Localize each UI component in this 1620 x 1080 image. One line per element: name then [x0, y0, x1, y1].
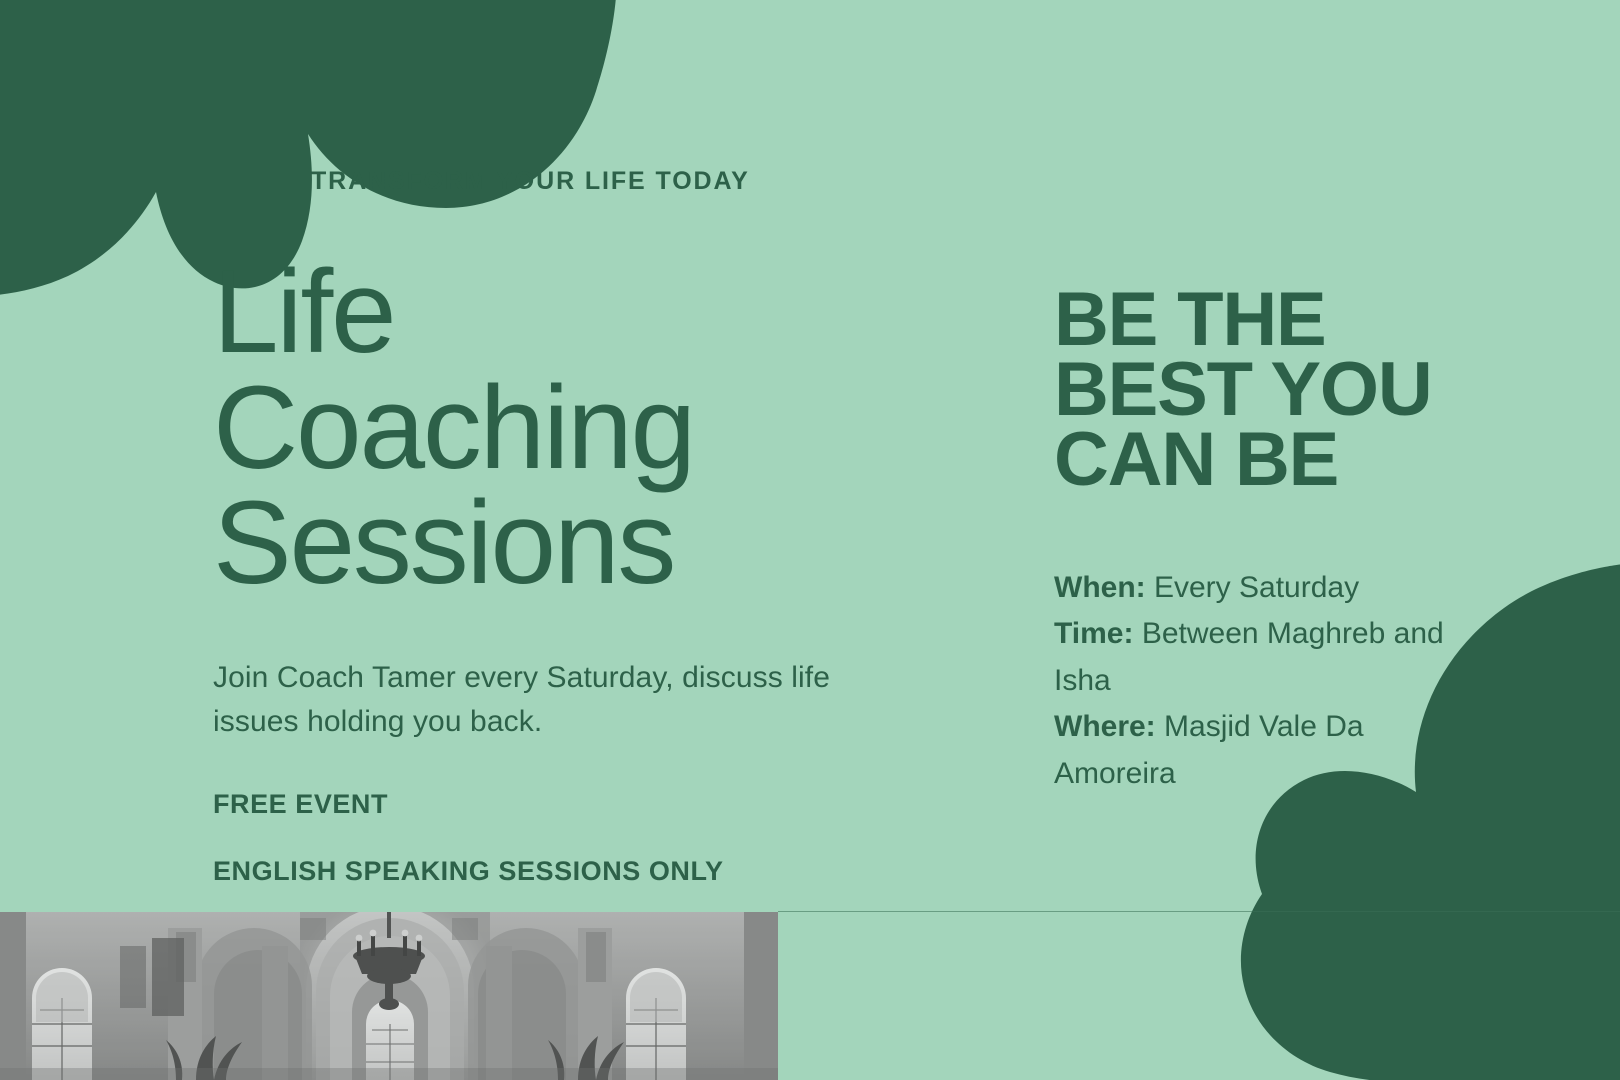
left-column: Life Coaching Sessions Join Coach Tamer …	[213, 255, 913, 887]
language-notice: ENGLISH SPEAKING SESSIONS ONLY	[213, 856, 913, 887]
supporting-copy: Join Coach Tamer every Saturday, discuss…	[213, 656, 863, 744]
detail-row-when: When: Every Saturday	[1054, 565, 1454, 612]
poster-canvas: TRANSFORM YOUR LIFE TODAY Life Coaching …	[0, 0, 1620, 1080]
poster-content: TRANSFORM YOUR LIFE TODAY Life Coaching …	[0, 0, 1620, 1080]
detail-label-when: When:	[1054, 571, 1146, 604]
eyebrow-tagline: TRANSFORM YOUR LIFE TODAY	[311, 167, 750, 196]
detail-label-where: Where:	[1054, 710, 1156, 743]
event-details-list: When: Every Saturday Time: Between Maghr…	[1054, 565, 1454, 798]
slogan-text: BE THE BEST YOU CAN BE	[1054, 285, 1504, 495]
detail-value-when: Every Saturday	[1154, 571, 1359, 604]
detail-row-time: Time: Between Maghreb and Isha	[1054, 611, 1454, 704]
right-column: BE THE BEST YOU CAN BE When: Every Satur…	[1054, 285, 1504, 797]
main-headline: Life Coaching Sessions	[213, 255, 913, 602]
detail-row-where: Where: Masjid Vale Da Amoreira	[1054, 704, 1454, 797]
free-event-badge: FREE EVENT	[213, 789, 913, 820]
detail-label-time: Time:	[1054, 617, 1133, 650]
